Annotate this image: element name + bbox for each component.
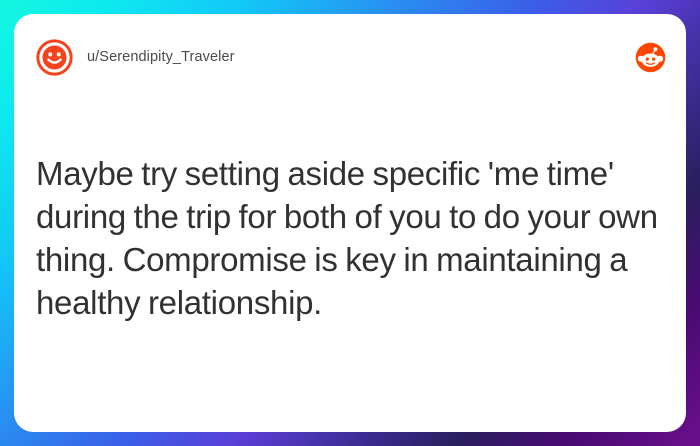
smiley-face-avatar-icon[interactable] [36, 39, 73, 76]
username-label[interactable]: u/Serendipity_Traveler [87, 49, 235, 65]
reddit-snoo-icon[interactable] [635, 42, 666, 73]
card-body: Maybe try setting aside specific 'me tim… [36, 152, 664, 324]
screenshot-stage: u/Serendipity_Traveler [0, 0, 700, 446]
card-header: u/Serendipity_Traveler [14, 14, 686, 100]
reddit-comment-card: u/Serendipity_Traveler [14, 14, 686, 432]
post-body-text: Maybe try setting aside specific 'me tim… [36, 152, 664, 324]
